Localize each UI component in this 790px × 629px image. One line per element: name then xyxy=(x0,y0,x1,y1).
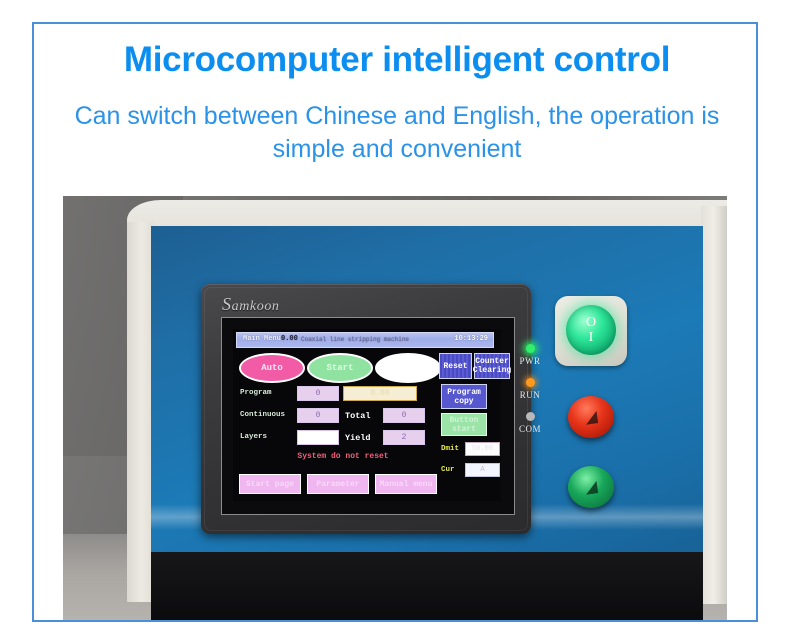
layers-value-field[interactable]: 1 xyxy=(297,430,339,445)
status-led-group: PWR RUN COM xyxy=(517,344,543,446)
counter-clearing-button[interactable]: Counter Clearing xyxy=(474,353,510,379)
machine-body: Samkoon Main Menu 0.00 Coaxial line stri… xyxy=(127,200,727,620)
total-label: Total xyxy=(345,411,371,421)
manual-menu-button[interactable]: Manual menu xyxy=(375,474,437,494)
hmi-title-bar: Main Menu 0.00 Coaxial line stripping ma… xyxy=(236,332,494,348)
pwr-led-label: PWR xyxy=(517,356,543,366)
parameter-button[interactable]: Parameter xyxy=(307,474,369,494)
emergency-stop-button[interactable]: ◢ xyxy=(568,396,614,438)
total-value-field[interactable]: 0 xyxy=(383,408,425,423)
start-button[interactable]: Start xyxy=(307,353,373,383)
com-led-icon xyxy=(526,412,535,421)
page-title: Microcomputer intelligent control xyxy=(34,40,760,80)
lcd-screen[interactable]: Main Menu 0.00 Coaxial line stripping ma… xyxy=(233,329,501,501)
page-root: Microcomputer intelligent control Can sw… xyxy=(0,0,790,629)
machine-case-right xyxy=(701,206,727,604)
power-on-off-switch[interactable]: O I xyxy=(566,305,616,355)
continuous-value-field[interactable]: 0 xyxy=(297,408,339,423)
power-off-label: I xyxy=(589,330,594,345)
brand-initial: S xyxy=(222,294,232,314)
screen-name-label: Main Menu xyxy=(243,335,281,343)
machine-case-left xyxy=(127,222,153,602)
auto-button[interactable]: Auto xyxy=(239,353,305,383)
button-start-button[interactable]: Button start xyxy=(441,413,487,436)
reset-button[interactable]: Reset xyxy=(439,353,472,379)
cur-label: Cur xyxy=(441,466,455,474)
content-frame: Microcomputer intelligent control Can sw… xyxy=(32,22,758,622)
product-photo: Samkoon Main Menu 0.00 Coaxial line stri… xyxy=(63,196,727,620)
run-led-icon xyxy=(526,378,535,387)
power-switch-housing: O I xyxy=(555,296,627,366)
layers-label: Layers xyxy=(240,433,267,441)
yield-value-field[interactable]: 2 xyxy=(383,430,425,445)
action-green-button[interactable]: ◢ xyxy=(568,466,614,508)
clock-display: 10:13:29 xyxy=(454,335,488,343)
power-on-label: O xyxy=(586,315,596,330)
system-warning-text: System do not reset xyxy=(273,452,413,461)
blank-indicator-button[interactable] xyxy=(375,353,441,383)
lcd-bezel: Main Menu 0.00 Coaxial line stripping ma… xyxy=(221,317,515,515)
program-copy-button[interactable]: Program copy xyxy=(441,384,487,409)
start-page-button[interactable]: Start page xyxy=(239,474,301,494)
dmit-label: Dmit xyxy=(441,445,459,453)
hand-press-icon: ◢ xyxy=(584,406,599,428)
page-subtitle: Can switch between Chinese and English, … xyxy=(54,100,740,166)
screen-version-label: 0.00 xyxy=(281,335,298,343)
machine-base xyxy=(151,552,703,620)
run-led-label: RUN xyxy=(517,390,543,400)
hmi-brand-logo: Samkoon xyxy=(222,294,280,315)
hmi-unit: Samkoon Main Menu 0.00 Coaxial line stri… xyxy=(201,284,531,534)
hand-press-icon-green: ◢ xyxy=(584,476,599,498)
cur-value-field[interactable]: A xyxy=(465,463,500,477)
program-name-field[interactable]: 0.00 xyxy=(343,386,417,401)
yield-label: Yield xyxy=(345,433,371,443)
program-value-field[interactable]: 0 xyxy=(297,386,339,401)
brand-rest: amkoon xyxy=(232,299,280,314)
com-led-label: COM xyxy=(517,424,543,434)
dmit-value-field[interactable]: 50.00 xyxy=(465,442,500,456)
machine-description-label: Coaxial line stripping machine xyxy=(301,336,409,343)
continuous-label: Continuous xyxy=(240,411,285,419)
program-label: Program xyxy=(240,389,272,397)
pwr-led-icon xyxy=(526,344,535,353)
